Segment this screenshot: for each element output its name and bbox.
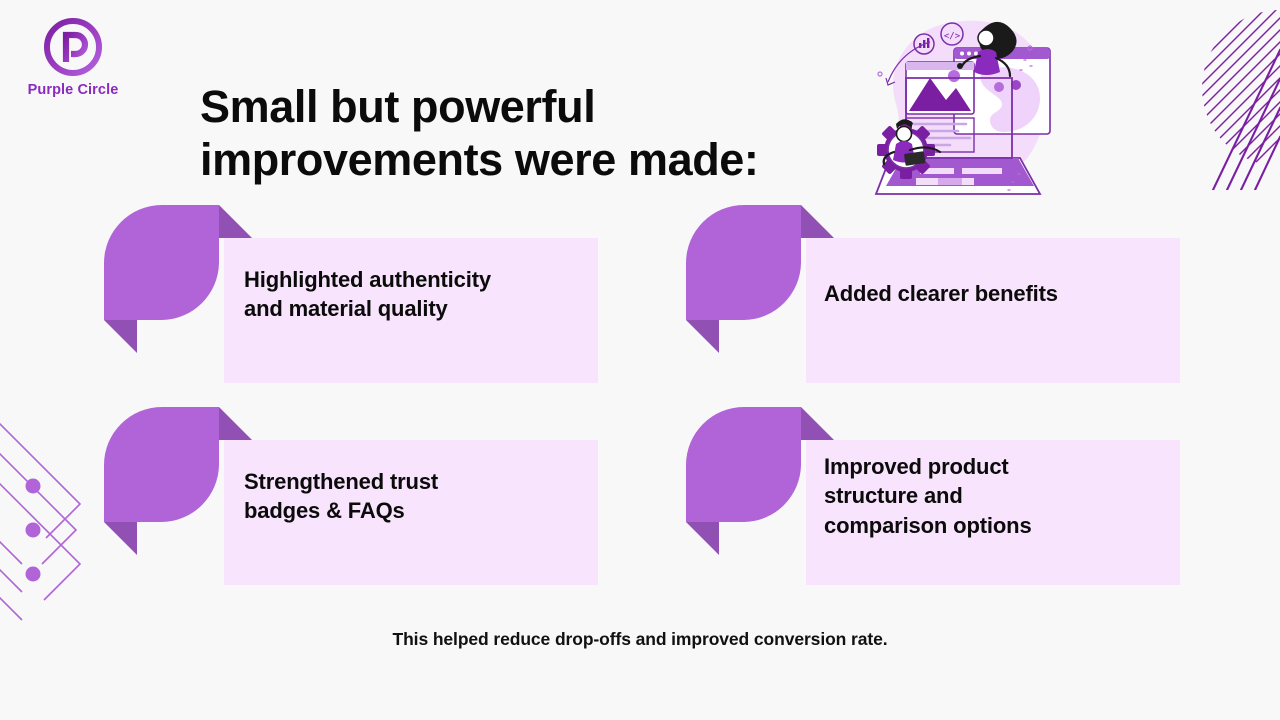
footer-note: This helped reduce drop-offs and improve… (0, 629, 1280, 650)
improvement-card[interactable]: Highlighted authenticity and material qu… (104, 205, 598, 383)
brand-name: Purple Circle (23, 83, 123, 98)
card-label: Strengthened trust badges & FAQs (244, 407, 594, 585)
improvement-card[interactable]: Strengthened trust badges & FAQs (104, 407, 598, 585)
card-label: Highlighted authenticity and material qu… (244, 205, 594, 383)
page-title: Small but powerful improvements were mad… (200, 80, 880, 186)
leaf-badge-icon (104, 407, 252, 555)
leaf-badge-icon (686, 205, 834, 353)
brand-logo[interactable]: Purple Circle (23, 16, 123, 98)
card-label: Added clearer benefits (824, 205, 1174, 383)
improvement-card[interactable]: Improved product structure and compariso… (686, 407, 1180, 585)
card-label: Improved product structure and compariso… (824, 407, 1174, 585)
bottom-left-chevrons-decoration (0, 398, 115, 720)
leaf-badge-icon (104, 205, 252, 353)
leaf-badge-icon (686, 407, 834, 555)
slide-root: Purple Circle Small but powerful improve… (0, 0, 1280, 720)
purple-circle-logo-icon (42, 16, 104, 78)
improvement-card[interactable]: Added clearer benefits (686, 205, 1180, 383)
deco-dots (26, 479, 41, 582)
top-right-stripes-decoration (1180, 0, 1280, 190)
laptop-team-working-illustration: </> (862, 8, 1058, 208)
code-tag-label: </> (944, 32, 961, 42)
